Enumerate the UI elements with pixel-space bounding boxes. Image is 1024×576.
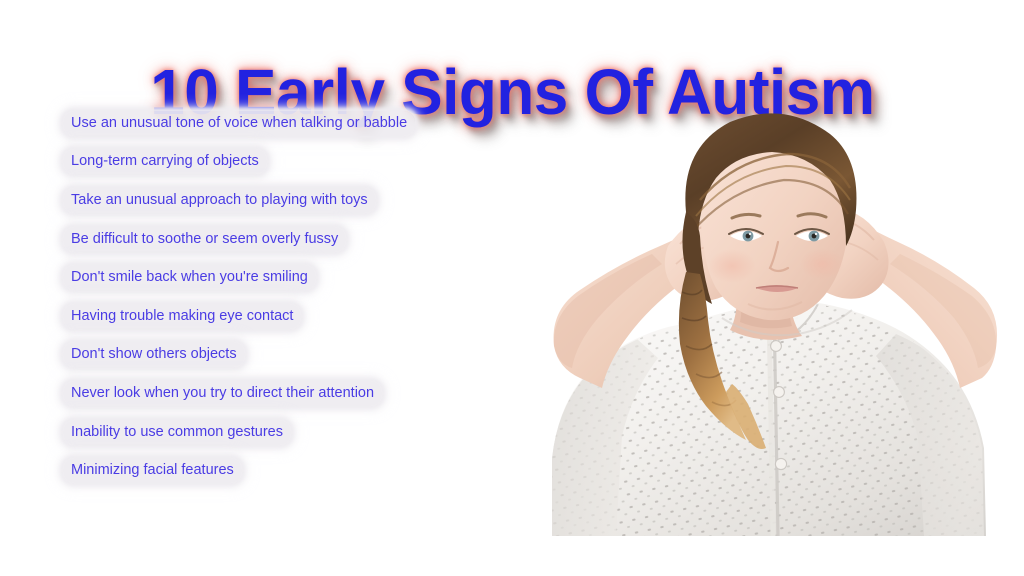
left-arm bbox=[554, 220, 726, 388]
list-item: Don't show others objects bbox=[63, 336, 533, 375]
sign-label: Minimizing facial features bbox=[63, 458, 242, 483]
sign-label: Take an unusual approach to playing with… bbox=[63, 188, 376, 213]
list-item: Never look when you try to direct their … bbox=[63, 374, 533, 413]
list-item: Use an unusual tone of voice when talkin… bbox=[63, 104, 533, 143]
girl-covering-ears-photo bbox=[540, 96, 1010, 536]
sign-label: Use an unusual tone of voice when talkin… bbox=[63, 111, 415, 136]
eyes bbox=[729, 229, 829, 241]
list-item: Be difficult to soothe or seem overly fu… bbox=[63, 220, 533, 259]
braid bbox=[679, 272, 766, 449]
list-item: Take an unusual approach to playing with… bbox=[63, 181, 533, 220]
sign-label: Having trouble making eye contact bbox=[63, 304, 301, 329]
sign-label: Inability to use common gestures bbox=[63, 420, 291, 445]
sign-label: Never look when you try to direct their … bbox=[63, 381, 382, 406]
list-item: Having trouble making eye contact bbox=[63, 297, 533, 336]
signs-list: Use an unusual tone of voice when talkin… bbox=[63, 104, 533, 490]
autism-signs-poster: 10 Early Signs Of Autism Use an unusual … bbox=[0, 0, 1024, 576]
list-item: Minimizing facial features bbox=[63, 451, 533, 490]
sign-label: Long-term carrying of objects bbox=[63, 149, 267, 174]
list-item: Don't smile back when you're smiling bbox=[63, 258, 533, 297]
sign-label: Don't show others objects bbox=[63, 342, 245, 367]
list-item: Inability to use common gestures bbox=[63, 413, 533, 452]
title-container: 10 Early Signs Of Autism bbox=[0, 12, 1024, 90]
right-arm bbox=[834, 216, 997, 388]
sign-label: Be difficult to soothe or seem overly fu… bbox=[63, 227, 346, 252]
list-item: Long-term carrying of objects bbox=[63, 143, 533, 182]
sign-label: Don't smile back when you're smiling bbox=[63, 265, 316, 290]
head bbox=[682, 113, 856, 320]
shirt-group bbox=[540, 286, 1010, 536]
